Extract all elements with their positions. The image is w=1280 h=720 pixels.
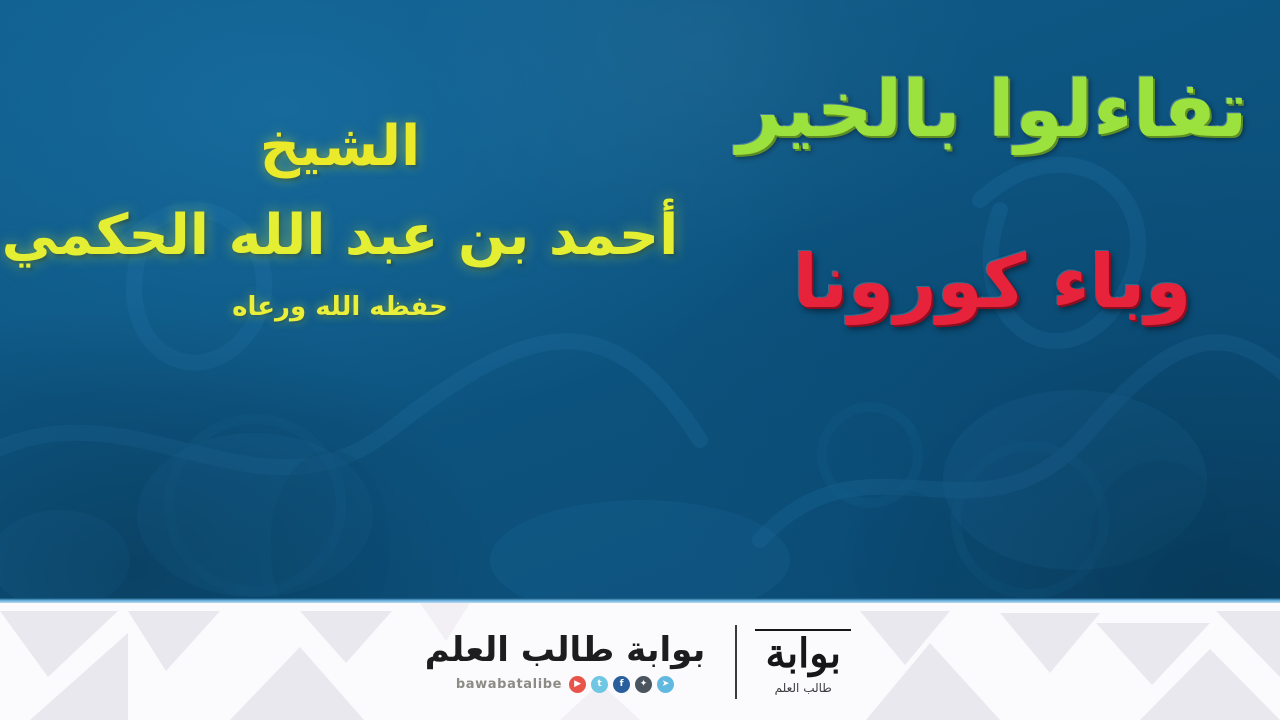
website-icon[interactable]: ✦: [635, 676, 652, 693]
channel-logo[interactable]: بوابة طالب العلم bawabatalibe ▶ t f ✦ ➤ …: [0, 603, 1280, 720]
speaker-name: أحمد بن عبد الله الحكمي: [0, 207, 680, 266]
headline-subtitle: وباء كورونا: [722, 244, 1262, 322]
logo-divider: [735, 625, 737, 699]
speaker-title: الشيخ: [0, 118, 680, 177]
headline-main: تفاءلوا بالخير: [722, 70, 1262, 152]
speaker-block: الشيخ أحمد بن عبد الله الحكمي حفظه الله …: [0, 118, 680, 321]
logo-seal-group: بوابة طالب العلم: [751, 629, 855, 695]
logo-meta-row: bawabatalibe ▶ t f ✦ ➤: [456, 676, 674, 693]
facebook-icon[interactable]: f: [613, 676, 630, 693]
logo-seal-subtitle: طالب العلم: [775, 681, 832, 695]
logo-wordmark: بوابة طالب العلم: [425, 630, 706, 670]
twitter-icon[interactable]: t: [591, 676, 608, 693]
telegram-icon[interactable]: ➤: [657, 676, 674, 693]
logo-wordmark-group: بوابة طالب العلم bawabatalibe ▶ t f ✦ ➤: [425, 630, 722, 693]
social-links[interactable]: ▶ t f ✦ ➤: [569, 676, 674, 693]
video-title-card: تفاءلوا بالخير وباء كورونا الشيخ أحمد بن…: [0, 0, 1280, 720]
youtube-icon[interactable]: ▶: [569, 676, 586, 693]
logo-seal-title: بوابة: [766, 634, 842, 674]
banner-background: تفاءلوا بالخير وباء كورونا الشيخ أحمد بن…: [0, 0, 1280, 598]
speaker-dua: حفظه الله ورعاه: [0, 294, 680, 321]
logo-handle: bawabatalibe: [456, 677, 562, 692]
headline-block: تفاءلوا بالخير وباء كورونا: [722, 70, 1262, 322]
footer-bar: بوابة طالب العلم bawabatalibe ▶ t f ✦ ➤ …: [0, 603, 1280, 720]
